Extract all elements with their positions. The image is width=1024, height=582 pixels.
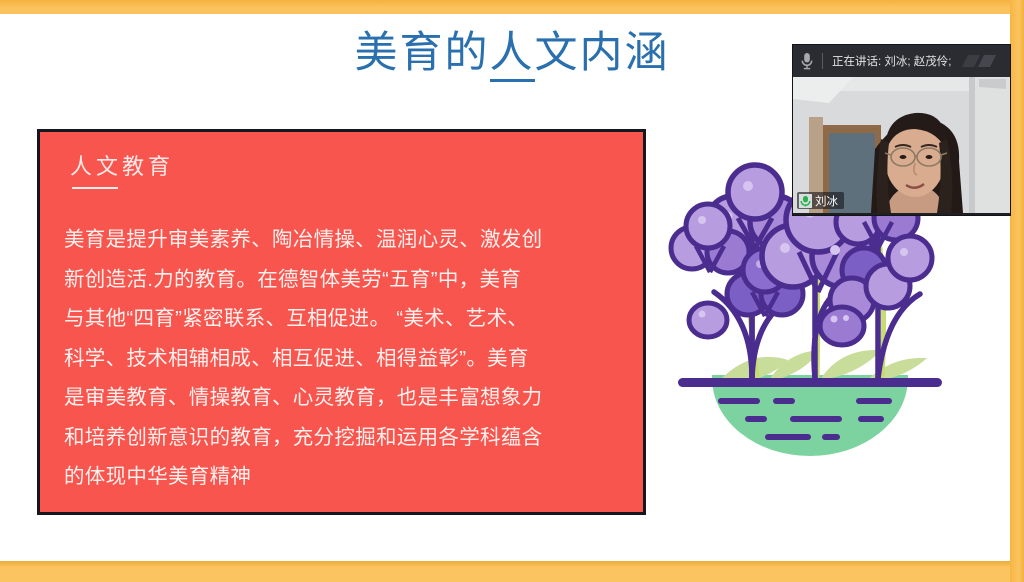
header-divider — [822, 53, 823, 69]
card-body-line: 和培养创新意识的教育，充分挖掘和运用各学科蕴含 — [64, 418, 624, 458]
participant-video-feed[interactable]: 刘冰 — [793, 77, 1010, 213]
slide-stage: 美育的人文内涵 人文教育 美育是提升审美素养、陶冶情操、温润心灵、激发创 新创造… — [0, 0, 1024, 582]
microphone-icon — [800, 51, 814, 71]
microphone-active-green-icon — [799, 194, 812, 208]
card-heading-rule — [72, 187, 118, 189]
video-panel-header: 正在讲话: 刘冰; 赵茂伶; — [793, 45, 1010, 77]
frame-bar-top — [0, 0, 1024, 14]
ground-line — [678, 378, 942, 387]
content-card: 人文教育 美育是提升审美素养、陶冶情操、温润心灵、激发创 新创造活.力的教育。在… — [37, 129, 646, 515]
card-body-line: 与其他“四育”紧密联系、互相促进。 “美术、艺术、 — [64, 299, 624, 339]
card-heading: 人文教育 — [70, 149, 174, 181]
speaking-status-label: 正在讲话: 刘冰; 赵茂伶; — [832, 53, 951, 69]
participant-name-chip: 刘冰 — [797, 192, 844, 209]
flower-bud-left — [689, 303, 727, 337]
frame-bar-bottom — [0, 561, 1024, 582]
title-segment-2: 文内涵 — [535, 30, 670, 77]
card-body-line: 美育是提升审美素养、陶冶情操、温润心灵、激发创 — [64, 220, 624, 260]
flower-bud-center — [820, 307, 864, 345]
frame-bar-right — [1010, 0, 1024, 582]
card-body-line: 新创造活.力的教育。在德智体美劳“五育”中，美育 — [64, 260, 624, 300]
card-body-line: 的体现中华美育精神 — [64, 457, 624, 497]
card-body-line: 科学、技术相辅相成、相互促进、相得益彰”。美育 — [64, 339, 624, 379]
video-panel[interactable]: 正在讲话: 刘冰; 赵茂伶; — [793, 45, 1010, 215]
collapse-chevrons-icon[interactable] — [962, 51, 1004, 71]
card-body-line: 是审美教育、情操教育、心灵教育，也是丰富想象力 — [64, 378, 624, 418]
card-body: 美育是提升审美素养、陶冶情操、温润心灵、激发创 新创造活.力的教育。在德智体美劳… — [64, 220, 624, 497]
title-underlined-char: 人 — [490, 30, 535, 82]
participant-name-label: 刘冰 — [815, 193, 838, 209]
title-segment-1: 美育的 — [355, 30, 490, 77]
